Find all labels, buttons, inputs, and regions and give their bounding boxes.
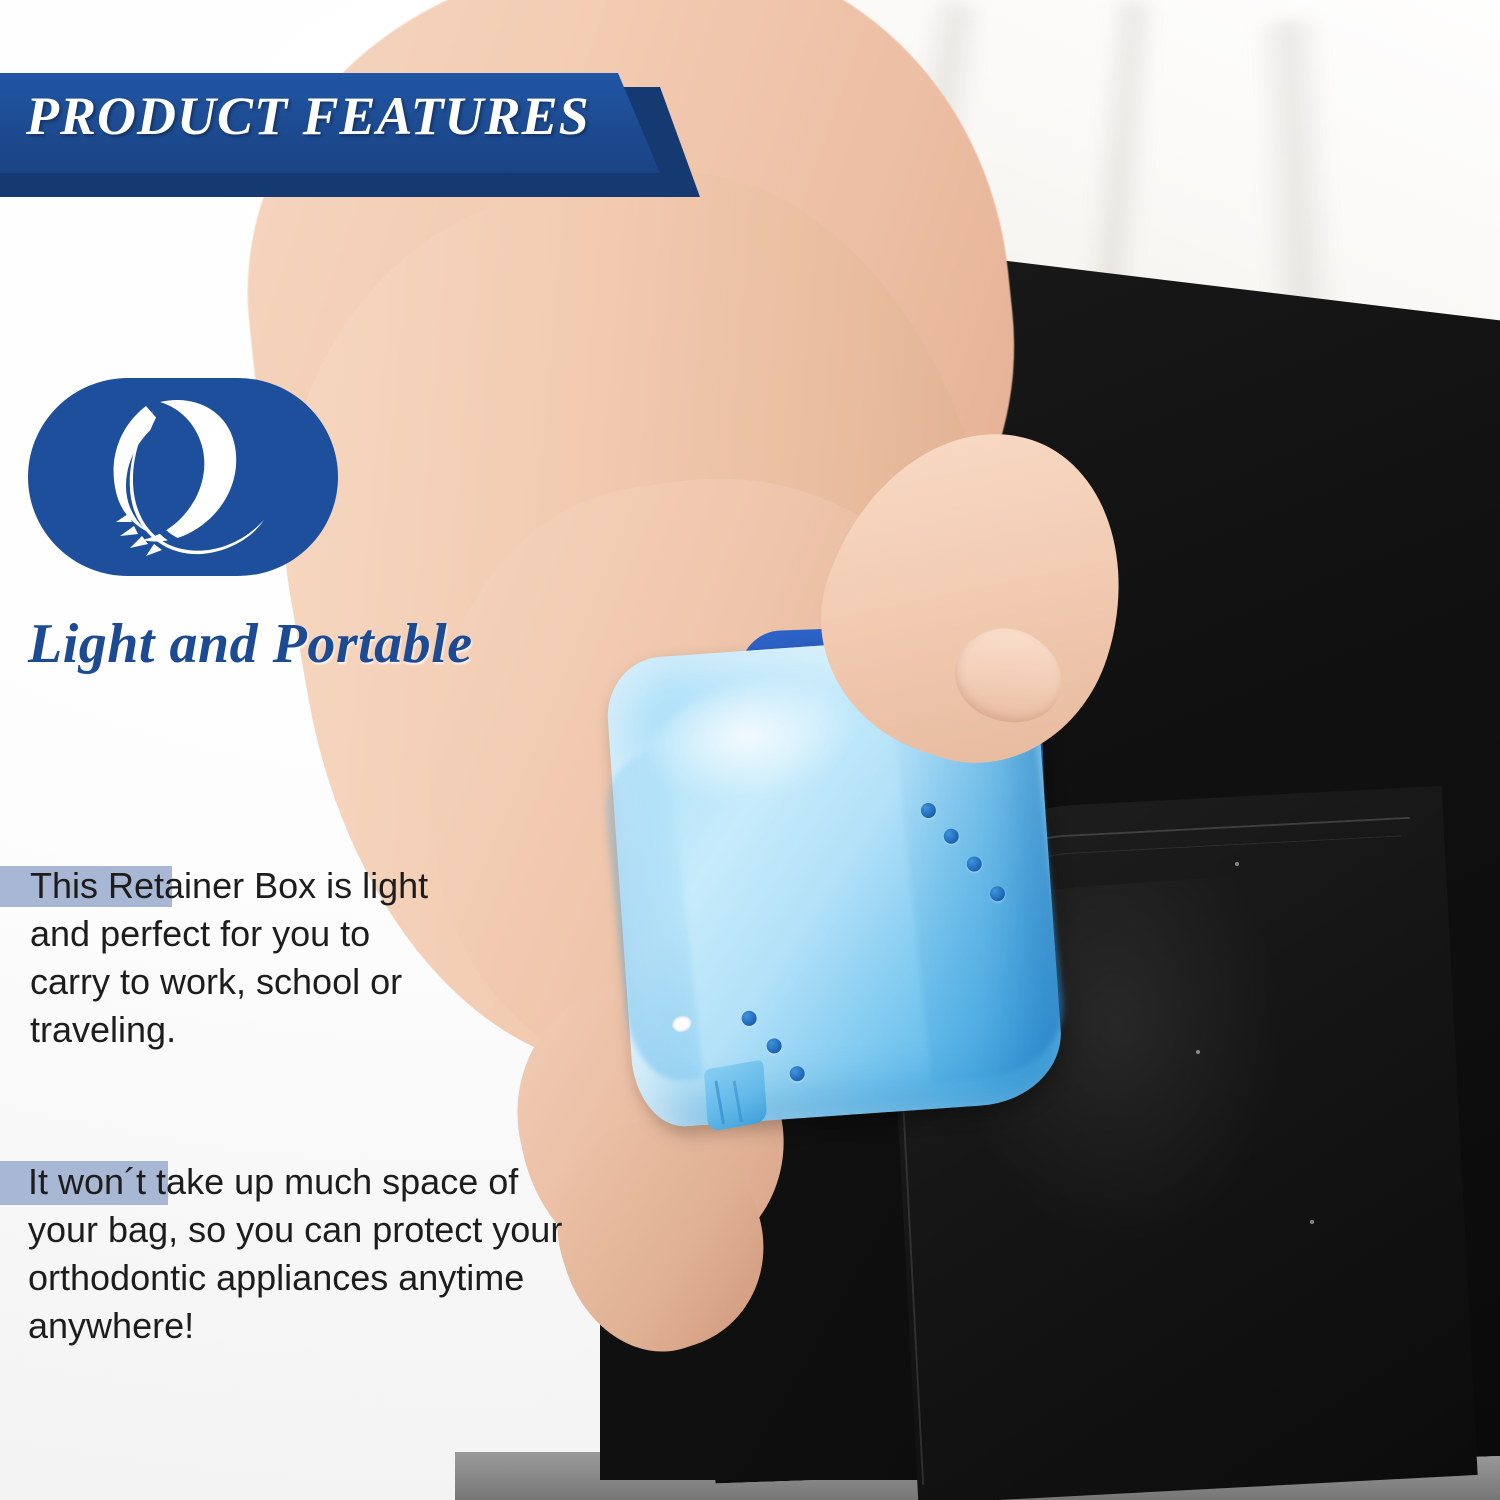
feature-paragraph-1: This Retainer Box is light and perfect f… — [30, 862, 460, 1054]
product-features-banner: PRODUCT FEATURES — [0, 73, 700, 191]
lint-speck — [1310, 1220, 1314, 1224]
feature-paragraph-2: It won´t take up much space of your bag,… — [28, 1158, 568, 1350]
lint-speck — [1196, 1050, 1200, 1054]
feature-heading: Light and Portable — [28, 612, 473, 676]
feather-icon — [68, 396, 298, 558]
page-title: PRODUCT FEATURES — [26, 85, 590, 147]
feather-icon-badge — [28, 378, 338, 576]
lint-speck — [1235, 862, 1239, 866]
product-feature-card: PRODUCT FEATURES Light and Portable This… — [0, 0, 1500, 1500]
